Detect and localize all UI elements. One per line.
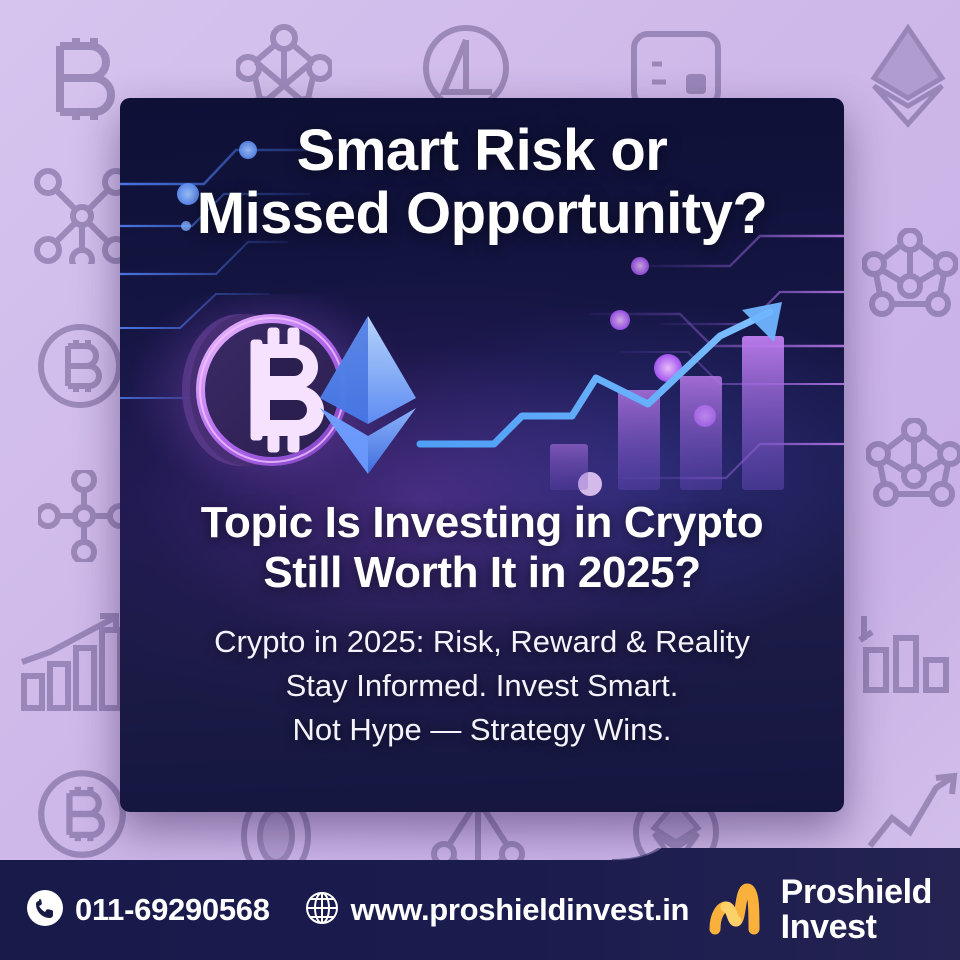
- globe-icon: [304, 890, 340, 931]
- headline: Smart Risk or Missed Opportunity?: [120, 120, 844, 245]
- brand-name: Proshield Invest: [781, 875, 932, 944]
- brand-line-2: Invest: [781, 910, 932, 945]
- brand-logo[interactable]: Proshield Invest: [707, 875, 942, 944]
- hero-graphic: [120, 294, 844, 494]
- tagline: Crypto in 2025: Risk, Reward & Reality S…: [150, 620, 814, 752]
- phone-number: 011-69290568: [75, 892, 270, 928]
- headline-line-1: Smart Risk or: [297, 118, 668, 183]
- proshield-logo-mark: [707, 877, 769, 944]
- brand-line-1: Proshield: [781, 873, 932, 911]
- poster-canvas: Smart Risk or Missed Opportunity?: [0, 0, 960, 960]
- footer-bar: 011-69290568 www.proshieldinvest.in: [0, 848, 960, 960]
- node-cluster-icon: [866, 418, 960, 514]
- tagline-line-1: Crypto in 2025: Risk, Reward & Reality: [150, 620, 814, 664]
- subject-line-2: Still Worth It in 2025?: [148, 548, 816, 598]
- node-cluster-icon: [862, 228, 958, 324]
- ethereum-diamond-icon: [862, 24, 954, 128]
- growth-bars-icon: [14, 612, 126, 718]
- node-star-icon: [38, 470, 130, 562]
- node-network-icon: [34, 168, 130, 264]
- bitcoin-symbol-icon: [36, 28, 128, 128]
- poster-card: Smart Risk or Missed Opportunity?: [120, 98, 844, 812]
- website-contact[interactable]: www.proshieldinvest.in: [304, 890, 689, 931]
- phone-icon: [26, 889, 64, 932]
- headline-line-2: Missed Opportunity?: [120, 183, 844, 246]
- tagline-line-3: Not Hype — Strategy Wins.: [150, 708, 814, 752]
- phone-contact[interactable]: 011-69290568: [26, 889, 270, 932]
- website-url: www.proshieldinvest.in: [351, 892, 689, 928]
- bitcoin-circle-icon: [36, 768, 128, 860]
- subject-heading: Topic Is Investing in Crypto Still Worth…: [148, 498, 816, 598]
- crypto-illustration: [120, 294, 844, 494]
- bitcoin-circle-icon: [36, 322, 124, 410]
- chart-bars-icon: [858, 606, 954, 698]
- tagline-line-2: Stay Informed. Invest Smart.: [150, 664, 814, 708]
- subject-line-1: Topic Is Investing in Crypto: [201, 498, 763, 547]
